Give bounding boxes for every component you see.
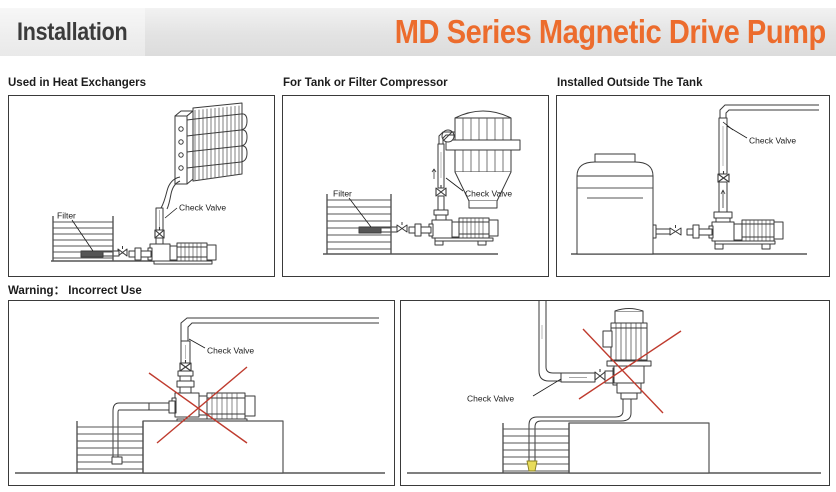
tab-installation-label: Installation (17, 18, 127, 47)
panel-heat-exchangers: Check Valve (8, 95, 275, 277)
pump-assembly (709, 220, 783, 249)
check-valve-label: Check Valve (207, 345, 254, 355)
riser-pipe (181, 341, 190, 363)
check-valve-leader (165, 208, 177, 218)
panel-warning-right: Check Valve (400, 300, 830, 486)
storage-tank (577, 154, 653, 254)
section-label-tank-filter-compressor: For Tank or Filter Compressor (283, 77, 448, 89)
pedestal-block (569, 423, 709, 473)
panel-outside-tank: Check Valve (556, 95, 830, 277)
heat-exchanger-unit (175, 103, 247, 184)
liquid-tank (327, 194, 391, 254)
panel-warning-left: Check Valve (8, 300, 395, 486)
section-label-outside-tank: Installed Outside The Tank (557, 77, 702, 89)
filter-label: Filter (333, 188, 352, 198)
riser-pipe (156, 208, 163, 230)
section-label-heat-exchangers: Used in Heat Exchangers (8, 77, 146, 89)
valve-to-pump-pipe (434, 196, 448, 220)
pump-assembly (148, 243, 216, 264)
diagram-outside-tank: Check Valve (557, 96, 827, 274)
discharge-header-pipe (181, 318, 379, 341)
section-label-warning: Warning： Incorrect Use (8, 282, 142, 298)
riser-pipe (432, 144, 444, 188)
discharge-header-pipe (720, 105, 819, 118)
panel-tank-filter-compressor: Check Valve (282, 95, 549, 277)
page-header: Installation MD Series Magnetic Drive Pu… (0, 8, 836, 56)
valve-to-pump-pipe (714, 182, 732, 222)
riser-pipe (719, 118, 727, 174)
diagram-warning-pump-above-level: Check Valve (9, 301, 392, 483)
page-title: MD Series Magnetic Drive Pump (395, 13, 826, 51)
check-valve-symbol (595, 369, 605, 380)
diagram-heat-exchangers: Check Valve (9, 96, 272, 274)
flange-stack (177, 371, 194, 393)
filter-leader (349, 198, 371, 227)
discharge-pipe-vertical (539, 301, 561, 381)
foot-valve-icon (527, 461, 537, 471)
suction-pipe (381, 222, 431, 236)
filter-label: Filter (57, 210, 76, 220)
pump-assembly (429, 218, 498, 245)
tab-installation[interactable]: Installation (0, 8, 145, 56)
check-valve-label: Check Valve (467, 393, 514, 403)
diagram-tank-filter-compressor: Check Valve (283, 96, 546, 274)
pump-assembly-vertical (603, 309, 651, 400)
horizontal-pipe-run (561, 373, 595, 382)
header-title-container: MD Series Magnetic Drive Pump (145, 8, 836, 56)
check-valve-label: Check Valve (465, 188, 512, 198)
check-valve-leader (533, 379, 561, 396)
check-valve-label: Check Valve (749, 135, 796, 145)
diagram-warning-vertical-pump: Check Valve (401, 301, 827, 483)
pedestal-block (143, 421, 283, 473)
liquid-tank (77, 421, 143, 473)
check-valve-label: Check Valve (179, 202, 226, 212)
check-valve-leader (189, 339, 205, 348)
